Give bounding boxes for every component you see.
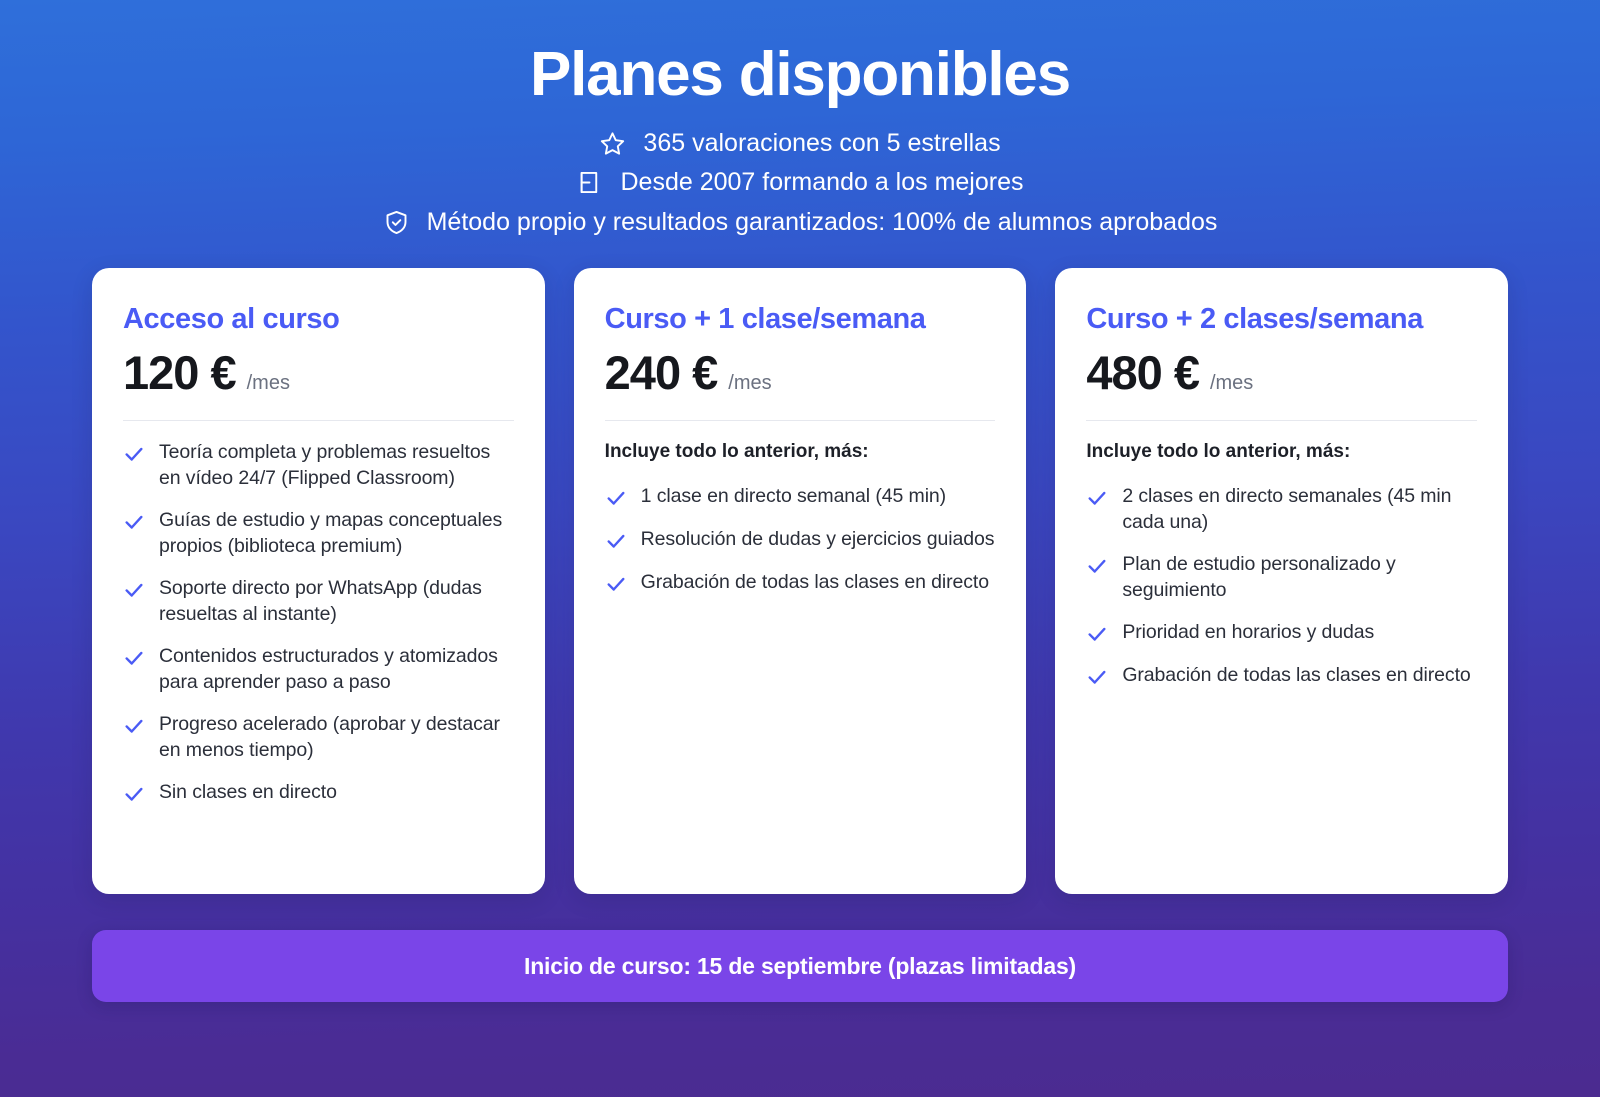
list-item: Soporte directo por WhatsApp (dudas resu… [123, 576, 514, 628]
card-divider [1086, 420, 1477, 421]
check-icon [1086, 664, 1108, 690]
list-item: 1 clase en directo semanal (45 min) [605, 484, 996, 511]
header-subtitle-list: 365 valoraciones con 5 estrellas Desde 2… [0, 130, 1600, 237]
subtitle-row-ratings: 365 valoraciones con 5 estrellas [599, 130, 1000, 158]
plan-period: /mes [1210, 372, 1253, 395]
card-divider [605, 420, 996, 421]
plan-period: /mes [247, 372, 290, 395]
list-item: Prioridad en horarios y dudas [1086, 620, 1477, 647]
plan-title: Curso + 1 clase/semana [605, 302, 996, 337]
check-icon [123, 441, 145, 467]
feature-text: Progreso acelerado (aprobar y destacar e… [159, 712, 514, 764]
shield-check-icon [383, 209, 410, 236]
feature-text: Sin clases en directo [159, 780, 337, 806]
plan-title: Curso + 2 clases/semana [1086, 302, 1477, 337]
subtitle-row-method: Método propio y resultados garantizados:… [383, 209, 1218, 237]
list-item: Teoría completa y problemas resueltos en… [123, 440, 514, 492]
check-icon [1086, 621, 1108, 647]
book-icon [576, 169, 603, 196]
star-icon [599, 130, 626, 157]
feature-text: Soporte directo por WhatsApp (dudas resu… [159, 576, 514, 628]
list-item: Plan de estudio personalizado y seguimie… [1086, 552, 1477, 604]
subtitle-text-ratings: 365 valoraciones con 5 estrellas [643, 130, 1000, 158]
plan-includes-note: Incluye todo lo anterior, más: [605, 440, 996, 465]
plan-includes-note: Incluye todo lo anterior, más: [1086, 440, 1477, 465]
plan-price-row: 480 € /mes [1086, 348, 1477, 399]
plan-price-row: 240 € /mes [605, 348, 996, 399]
list-item: 2 clases en directo semanales (45 min ca… [1086, 484, 1477, 536]
check-icon [1086, 485, 1108, 511]
plan-title: Acceso al curso [123, 302, 514, 337]
pricing-card-curso-2-clases[interactable]: Curso + 2 clases/semana 480 € /mes Inclu… [1055, 268, 1508, 894]
feature-text: Grabación de todas las clases en directo [1122, 663, 1470, 689]
check-icon [605, 528, 627, 554]
check-icon [123, 781, 145, 807]
plan-price: 120 € [123, 348, 236, 399]
feature-text: Guías de estudio y mapas conceptuales pr… [159, 508, 514, 560]
subtitle-row-since: Desde 2007 formando a los mejores [576, 169, 1023, 197]
course-start-banner[interactable]: Inicio de curso: 15 de septiembre (plaza… [92, 930, 1508, 1002]
list-item: Resolución de dudas y ejercicios guiados [605, 527, 996, 554]
list-item: Grabación de todas las clases en directo [605, 570, 996, 597]
check-icon [123, 713, 145, 739]
list-item: Guías de estudio y mapas conceptuales pr… [123, 508, 514, 560]
check-icon [123, 645, 145, 671]
plan-price-row: 120 € /mes [123, 348, 514, 399]
feature-text: 2 clases en directo semanales (45 min ca… [1122, 484, 1477, 536]
feature-text: 1 clase en directo semanal (45 min) [641, 484, 946, 510]
card-divider [123, 420, 514, 421]
list-item: Grabación de todas las clases en directo [1086, 663, 1477, 690]
feature-text: Resolución de dudas y ejercicios guiados [641, 527, 995, 553]
feature-text: Plan de estudio personalizado y seguimie… [1122, 552, 1477, 604]
pricing-page: Planes disponibles 365 valoraciones con … [0, 0, 1600, 1097]
check-icon [605, 571, 627, 597]
plan-price: 240 € [605, 348, 718, 399]
check-icon [123, 509, 145, 535]
pricing-card-curso-1-clase[interactable]: Curso + 1 clase/semana 240 € /mes Incluy… [574, 268, 1027, 894]
list-item: Contenidos estructurados y atomizados pa… [123, 644, 514, 696]
subtitle-text-method: Método propio y resultados garantizados:… [427, 209, 1218, 237]
list-item: Sin clases en directo [123, 780, 514, 807]
subtitle-text-since: Desde 2007 formando a los mejores [620, 169, 1023, 197]
check-icon [605, 485, 627, 511]
feature-text: Grabación de todas las clases en directo [641, 570, 989, 596]
plan-feature-list: 1 clase en directo semanal (45 min) Reso… [605, 484, 996, 597]
check-icon [123, 577, 145, 603]
check-icon [1086, 553, 1108, 579]
plan-period: /mes [728, 372, 771, 395]
page-header: Planes disponibles 365 valoraciones con … [0, 0, 1600, 236]
feature-text: Contenidos estructurados y atomizados pa… [159, 644, 514, 696]
plan-feature-list: 2 clases en directo semanales (45 min ca… [1086, 484, 1477, 690]
pricing-card-acceso-al-curso[interactable]: Acceso al curso 120 € /mes Teoría comple… [92, 268, 545, 894]
list-item: Progreso acelerado (aprobar y destacar e… [123, 712, 514, 764]
feature-text: Teoría completa y problemas resueltos en… [159, 440, 514, 492]
plan-price: 480 € [1086, 348, 1199, 399]
pricing-card-list: Acceso al curso 120 € /mes Teoría comple… [0, 268, 1600, 894]
page-title: Planes disponibles [0, 42, 1600, 108]
plan-feature-list: Teoría completa y problemas resueltos en… [123, 440, 514, 806]
feature-text: Prioridad en horarios y dudas [1122, 620, 1374, 646]
